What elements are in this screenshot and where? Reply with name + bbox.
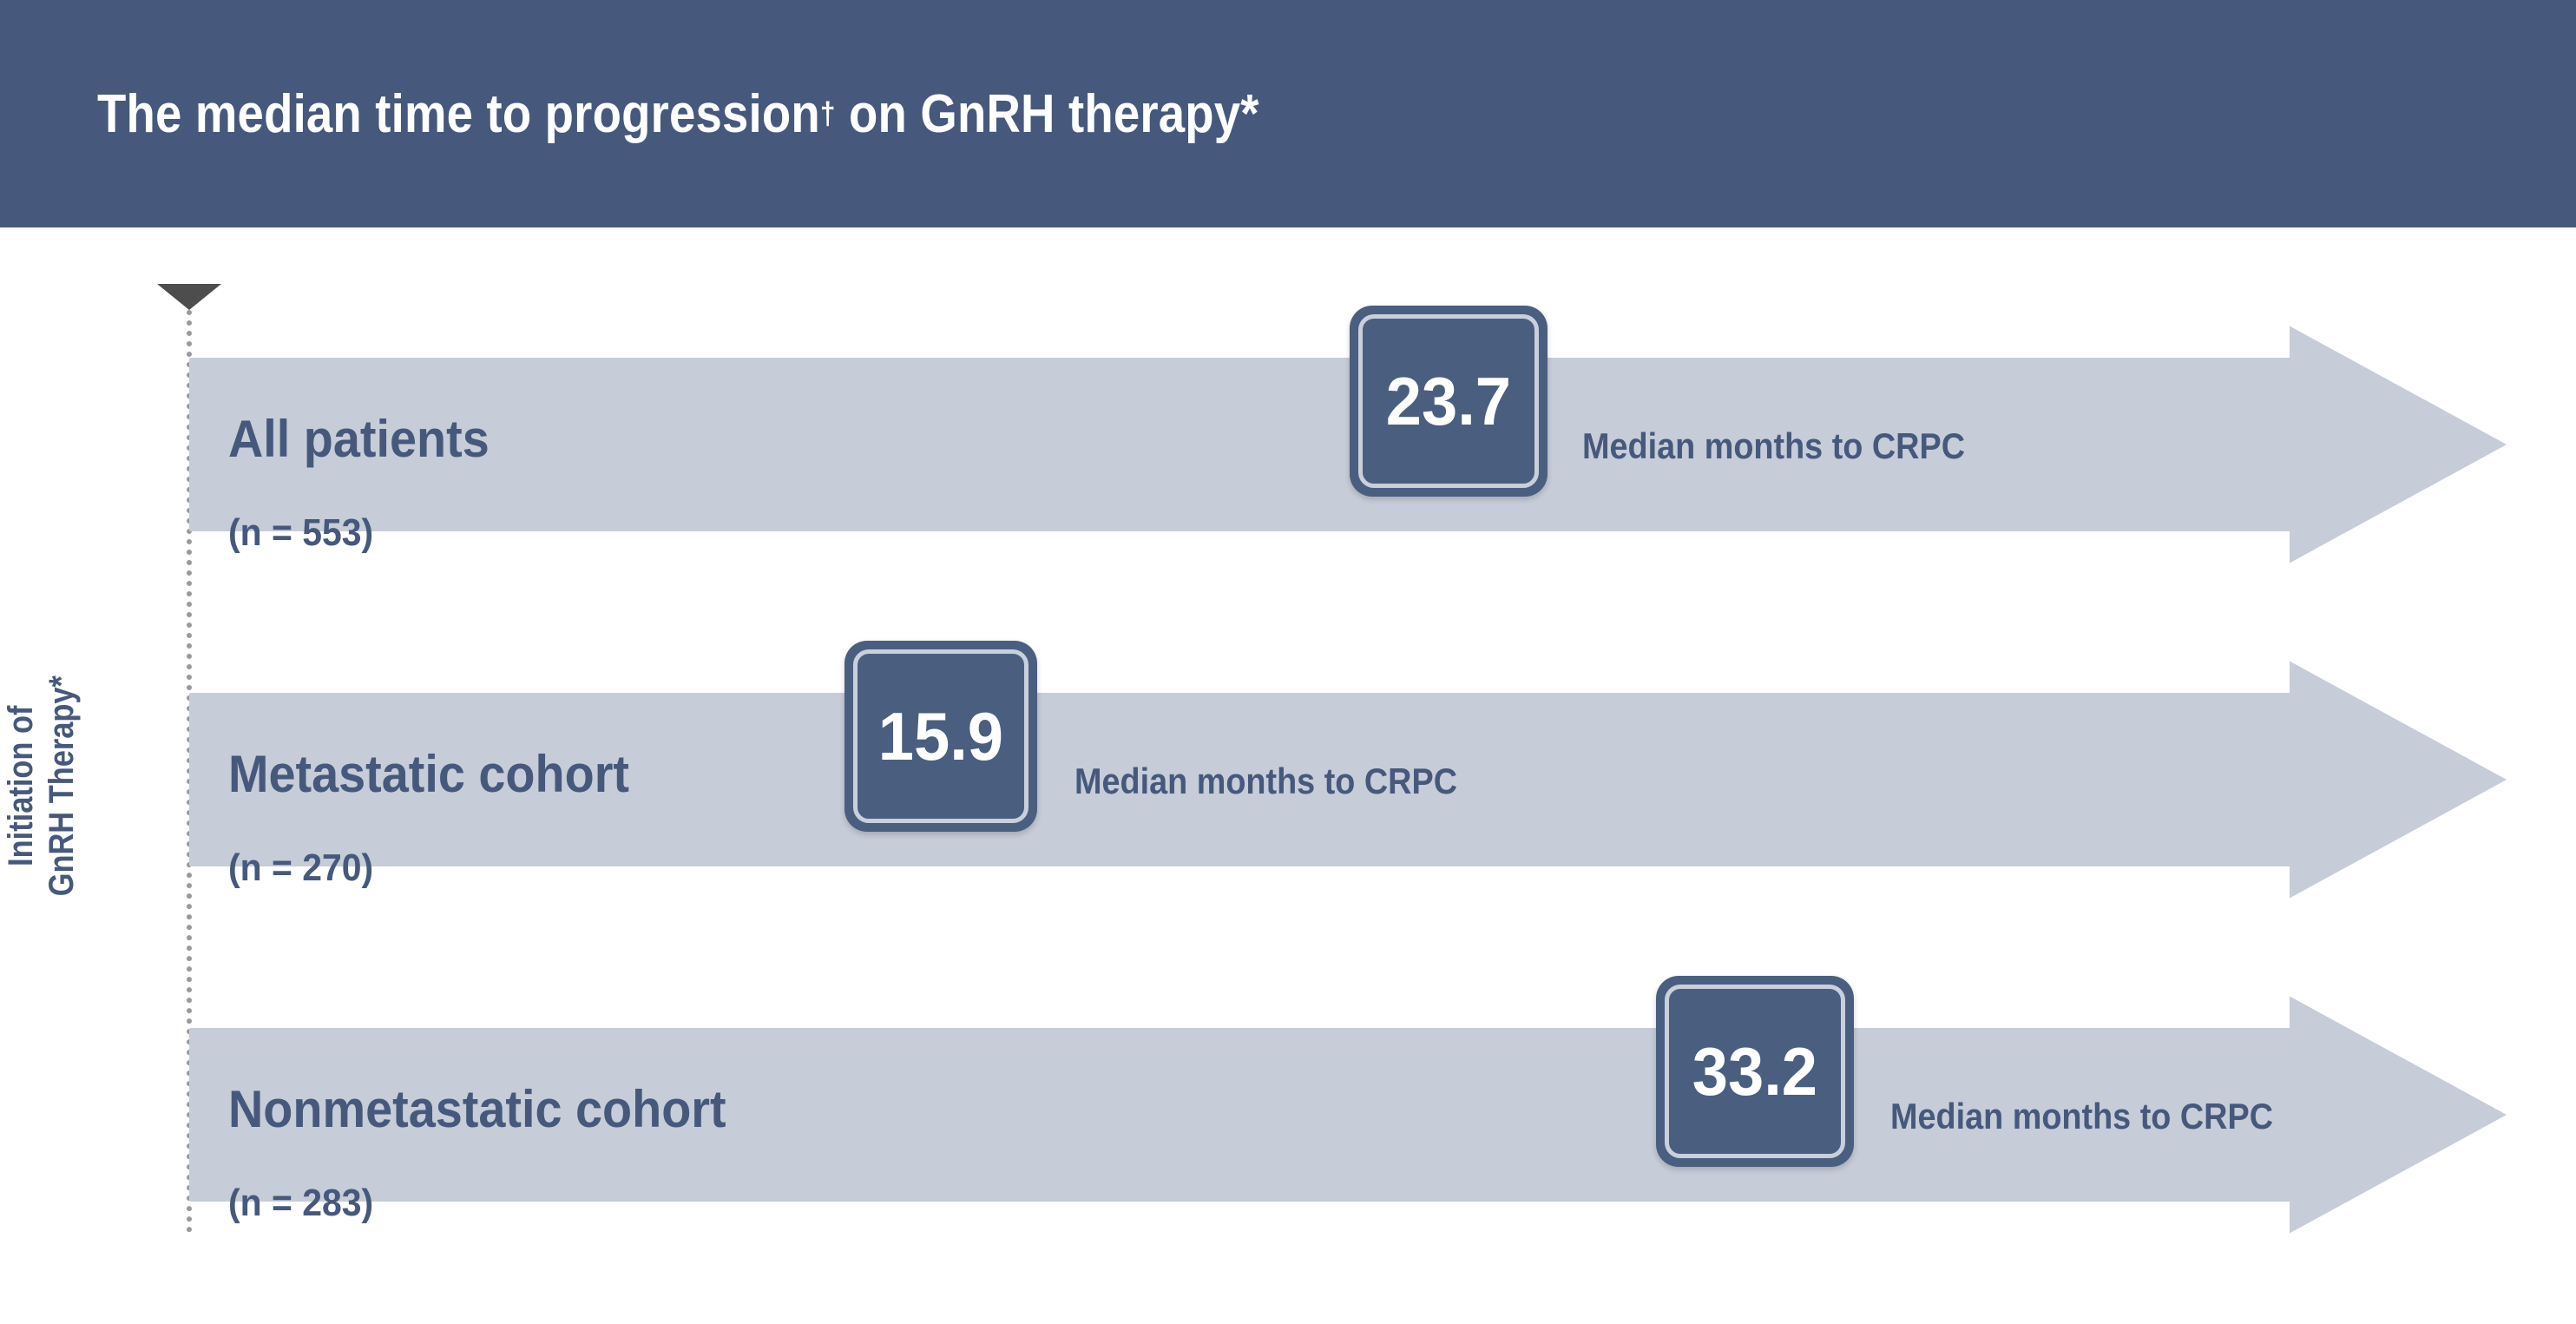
y-axis-label-line2: GnRH Therapy* — [42, 675, 82, 896]
arrow-head-icon — [2290, 945, 2507, 1284]
cohort-label: Metastatic cohort (n = 270) — [228, 717, 660, 919]
cohort-sample-size: (n = 283) — [228, 1184, 726, 1222]
y-axis-label: Initiation of GnRH Therapy* — [0, 586, 89, 985]
value-badge: 23.7 — [1350, 306, 1548, 497]
arrow-head-icon — [2290, 610, 2507, 949]
cohort-label: Nonmetastatic cohort (n = 283) — [228, 1052, 764, 1254]
value-number: 33.2 — [1692, 1037, 1817, 1105]
arrow-head-icon — [2290, 275, 2507, 614]
cohort-sample-size: (n = 553) — [228, 514, 490, 552]
value-badge: 33.2 — [1656, 976, 1854, 1167]
page-title-main: The median time to progression — [97, 83, 820, 145]
page-title: The median time to progression† on GnRH … — [97, 0, 1259, 227]
chart-plot-area: Initiation of GnRH Therapy* All patients… — [0, 227, 2576, 1324]
cohort-sample-size: (n = 270) — [228, 849, 629, 887]
value-caption: Median months to CRPC — [1890, 1096, 2273, 1137]
value-badge: 15.9 — [844, 641, 1037, 832]
cohort-label: All patients (n = 553) — [228, 382, 509, 583]
value-number: 15.9 — [878, 702, 1003, 770]
value-caption: Median months to CRPC — [1582, 425, 1965, 467]
cohort-name: All patients — [228, 413, 490, 465]
arrow-shaft — [189, 358, 2321, 531]
y-axis-label-line1: Initiation of — [1, 705, 42, 866]
page-title-rest: on GnRH therapy* — [836, 83, 1259, 145]
header-band: The median time to progression† on GnRH … — [0, 0, 2576, 227]
value-number: 23.7 — [1386, 367, 1511, 435]
cohort-name: Metastatic cohort — [228, 748, 629, 800]
down-triangle-marker-icon — [157, 284, 221, 310]
value-caption: Median months to CRPC — [1074, 761, 1457, 802]
cohort-name: Nonmetastatic cohort — [228, 1084, 726, 1136]
